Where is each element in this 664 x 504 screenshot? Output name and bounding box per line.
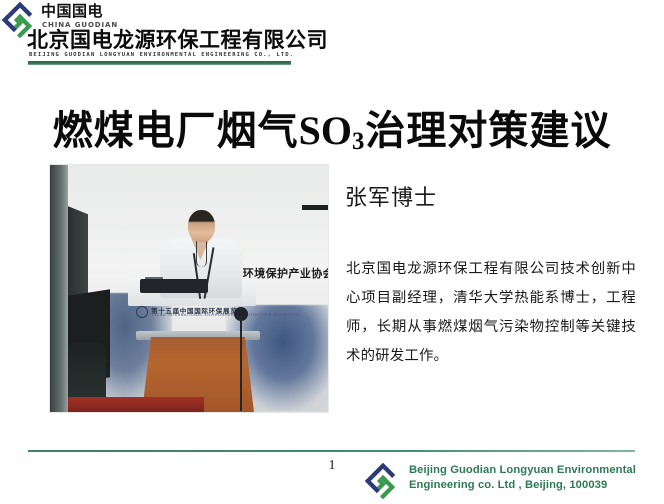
- title-formula-base: SO: [299, 108, 352, 153]
- photo-left-shadow: [50, 165, 68, 412]
- title-formula-subscript: 3: [352, 128, 365, 155]
- photo-speaker-head: [188, 210, 215, 242]
- title-suffix: 治理对策建议: [365, 108, 611, 154]
- photo-light-stand-pole: [240, 315, 242, 411]
- group-name-cn: 中国国电: [41, 3, 103, 19]
- photo-banner-event-en: CHINA INTERNATIONAL ENVIRONMENTAL PROTEC…: [152, 313, 299, 317]
- photo-ceiling-bar: [302, 205, 328, 210]
- footer-company-line-1: Beijing Guodian Longyuan Environmental: [409, 464, 636, 476]
- photo-red-carpet: [68, 397, 204, 412]
- title-prefix: 燃煤电厂烟气: [53, 108, 299, 154]
- page-number: 1: [322, 458, 342, 474]
- footer-divider: [28, 450, 635, 452]
- speaker-bio: 北京国电龙源环保工程有限公司技术创新中心项目副经理，清华大学热能系博士，工程师，…: [346, 255, 636, 371]
- footer-company-line-2: Engineering co. Ltd , Beijing, 100039: [409, 479, 607, 491]
- page-title: 燃煤电厂烟气SO3治理对策建议: [0, 105, 664, 163]
- company-name-en: BEIJING GUODIAN LONGYUAN ENVIRONMENTAL E…: [29, 52, 294, 58]
- company-name-cn: 北京国电龙源环保工程有限公司: [27, 29, 328, 52]
- speaker-name: 张军博士: [345, 180, 437, 212]
- guodian-logo-footer-icon: [363, 463, 403, 499]
- slide-header: 中国国电 CHINA GUODIAN 北京国电龙源环保工程有限公司 BEIJIN…: [0, 0, 664, 66]
- header-divider: [28, 61, 291, 65]
- speaker-photo: 中国环境保护产业协会 第十五届中国国际环保展览会 CHINA INTERNATI…: [50, 165, 328, 412]
- photo-laptop: [140, 279, 208, 293]
- photo-speaker-lanyard: [196, 239, 207, 267]
- photo-banner-emblem-icon: [136, 306, 148, 318]
